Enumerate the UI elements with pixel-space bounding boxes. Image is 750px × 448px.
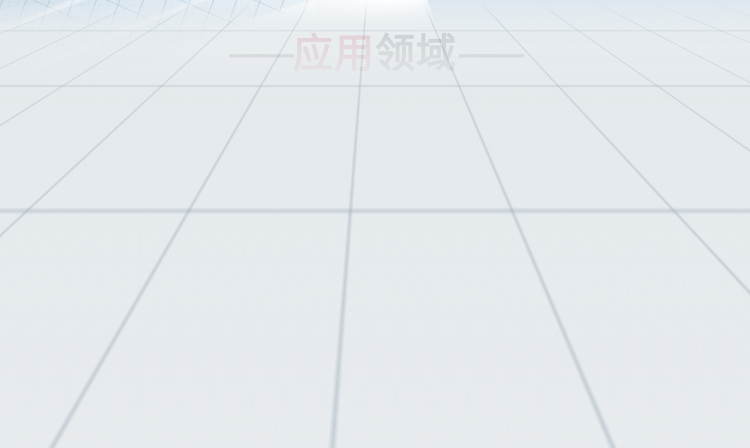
field-row: √ 伸缩缝填充 √ 地面填铺 √ 汽车减震 — [118, 234, 616, 287]
field-label: 幕墙填充 — [134, 295, 234, 331]
field-label: 基层填充 — [134, 189, 234, 225]
field-item: √ 屋顶保温 — [500, 136, 616, 172]
field-label: 外墙保温 — [134, 136, 234, 172]
check-icon: √ — [500, 194, 515, 222]
check-icon: √ — [118, 194, 133, 222]
check-icon: √ — [309, 141, 324, 169]
title-rest: 领域 — [375, 34, 457, 74]
check-icon: √ — [118, 247, 133, 275]
field-item: √ 幕墙填充 — [118, 295, 234, 331]
field-label: 屋顶保温 — [516, 136, 616, 172]
field-item: √ 箱体包装 — [500, 295, 616, 331]
check-icon: √ — [309, 194, 324, 222]
field-label: 冷库隔热 — [325, 295, 425, 331]
field-item: √ 冷库隔热 — [309, 295, 425, 331]
check-icon: √ — [309, 300, 324, 328]
field-label: 地面填铺 — [338, 242, 438, 278]
title-highlight: 应用 — [293, 34, 375, 74]
field-item: √ 外墙保温 — [118, 136, 234, 172]
field-label: 汽车减震 — [516, 242, 616, 278]
field-item: √ 风道隔音 — [500, 189, 616, 225]
title-dash-left: —— — [229, 37, 291, 71]
check-icon: √ — [500, 247, 515, 275]
field-label: 风道隔音 — [516, 189, 616, 225]
check-icon: √ — [118, 300, 133, 328]
field-item: √ 地面填铺 — [321, 242, 437, 278]
field-item: √ 汽车减震 — [500, 242, 616, 278]
field-item: √ 伸缩缝填充 — [118, 242, 259, 278]
application-fields-list: √ 外墙保温 √ 内墙保温 √ 屋顶保温 √ 基层填充 √ — [118, 128, 616, 340]
check-icon: √ — [321, 247, 336, 275]
field-label: 屋面防潮 — [325, 189, 425, 225]
page-title: ——应用领域—— — [0, 34, 750, 74]
field-label: 箱体包装 — [516, 295, 616, 331]
title-dash-right: —— — [459, 37, 521, 71]
field-item: √ 内墙保温 — [309, 136, 425, 172]
field-label: 内墙保温 — [325, 136, 425, 172]
field-row: √ 幕墙填充 √ 冷库隔热 √ 箱体包装 — [118, 287, 616, 340]
field-item: √ 基层填充 — [118, 189, 234, 225]
application-fields-poster: ——应用领域—— √ 外墙保温 √ 内墙保温 √ 屋顶保温 √ — [0, 0, 750, 448]
field-row: √ 外墙保温 √ 内墙保温 √ 屋顶保温 — [118, 128, 616, 181]
footer-tagline-primary: 我们服务过的行业远远不止这些 — [0, 362, 750, 389]
field-row: √ 基层填充 √ 屋面防潮 √ 风道隔音 — [118, 181, 616, 234]
check-icon: √ — [118, 141, 133, 169]
check-icon: √ — [500, 300, 515, 328]
poster-content: ——应用领域—— √ 外墙保温 √ 内墙保温 √ 屋顶保温 √ — [0, 0, 750, 448]
check-icon: √ — [500, 141, 515, 169]
field-item: √ 屋面防潮 — [309, 189, 425, 225]
field-label: 伸缩缝填充 — [134, 242, 259, 278]
footer-tagline-secondary: 期待与您的合作! — [0, 398, 750, 425]
